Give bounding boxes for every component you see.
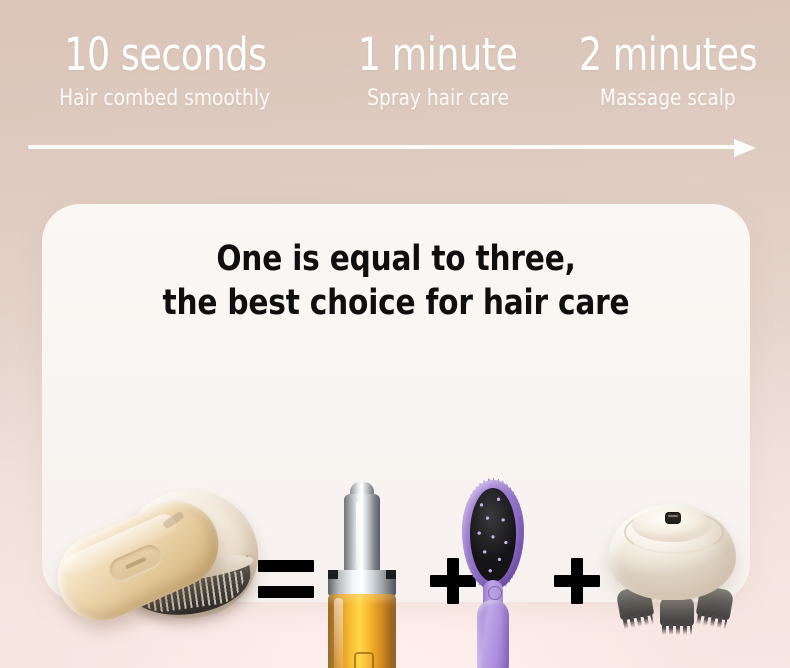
content-card: One is equal to three, the best choice f… [42, 204, 750, 602]
step-3-time: 2 minutes [579, 30, 757, 80]
equals-symbol [258, 558, 314, 604]
arrow-line [28, 145, 743, 149]
plus-symbol-2 [554, 558, 600, 604]
timeline-step-1: 10 seconds Hair combed smoothly [0, 30, 330, 112]
massager-claw-center [660, 596, 694, 626]
step-1-time: 10 seconds [64, 30, 266, 80]
device-brand-mark [162, 511, 185, 530]
serum-dropper-bottle-icon [320, 482, 404, 668]
step-2-description: Spray hair care [367, 85, 509, 112]
timeline-step-2: 1 minute Spray hair care [330, 30, 546, 112]
device-power-button [106, 541, 165, 585]
scalp-massager-icon [602, 504, 742, 632]
gold-brush-device-icon [54, 484, 266, 632]
promo-banner: 10 seconds Hair combed smoothly 1 minute… [0, 0, 790, 668]
purple-paddle-brush-icon [450, 476, 536, 668]
step-1-description: Hair combed smoothly [60, 85, 271, 112]
timeline-steps: 10 seconds Hair combed smoothly 1 minute… [0, 30, 790, 112]
step-3-description: Massage scalp [600, 85, 736, 112]
timeline-header: 10 seconds Hair combed smoothly 1 minute… [0, 0, 790, 170]
timeline-step-3: 2 minutes Massage scalp [546, 30, 790, 112]
bottle-collar [328, 570, 396, 596]
step-2-time: 1 minute [358, 30, 518, 80]
massager-charge-port [665, 512, 681, 524]
bottle-dropper-cap [344, 494, 380, 574]
arrow-head [734, 139, 756, 157]
bottle-body-amber [328, 594, 396, 668]
brush-logo [488, 586, 502, 600]
brush-handle [477, 600, 509, 668]
card-headline: One is equal to three, the best choice f… [63, 237, 729, 325]
brush-pins [470, 488, 516, 582]
equation-row [42, 336, 750, 586]
right-arrow-icon [28, 140, 770, 156]
